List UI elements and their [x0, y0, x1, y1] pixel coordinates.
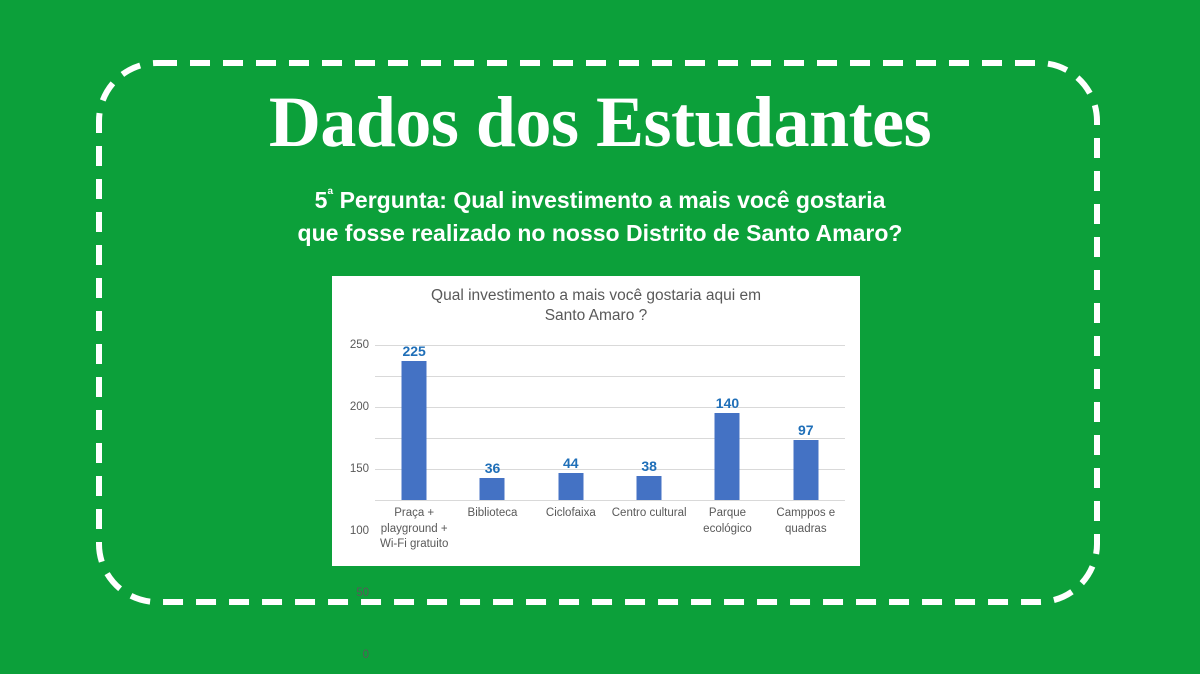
x-axis-category-label: Biblioteca	[453, 506, 531, 553]
bar-value-label: 36	[485, 460, 501, 476]
bar[interactable]	[637, 476, 662, 500]
y-axis-tick-label: 50	[356, 587, 369, 599]
bar-value-label: 38	[641, 458, 657, 474]
y-axis-tick-label: 250	[350, 339, 369, 351]
x-axis-labels: Praça + playground + Wi-Fi gratuitoBibli…	[375, 506, 845, 553]
bar-slot: 36	[453, 345, 531, 500]
x-axis-category-label: Camppos e quadras	[767, 506, 845, 553]
bar[interactable]	[402, 361, 427, 501]
bar[interactable]	[480, 478, 505, 500]
bar[interactable]	[793, 440, 818, 500]
bar-slot: 225	[375, 345, 453, 500]
x-axis-category-label: Ciclofaixa	[532, 506, 610, 553]
y-axis-tick-label: 100	[350, 525, 369, 537]
bar-value-label: 140	[716, 395, 739, 411]
subtitle-question-number: 5	[315, 187, 328, 213]
subtitle: 5ª Pergunta: Qual investimento a mais vo…	[0, 184, 1200, 251]
subtitle-line-1: 5ª Pergunta: Qual investimento a mais vo…	[0, 184, 1200, 217]
page-title: Dados dos Estudantes	[0, 86, 1200, 158]
bar[interactable]	[558, 473, 583, 500]
bar-slot: 140	[688, 345, 766, 500]
y-axis-tick-label: 150	[350, 463, 369, 475]
bar-value-label: 225	[402, 343, 425, 359]
slide-canvas: Dados dos Estudantes 5ª Pergunta: Qual i…	[0, 0, 1200, 674]
gridline: 0	[375, 500, 845, 501]
bar-slot: 38	[610, 345, 688, 500]
chart-title-line-2: Santo Amaro ?	[362, 306, 830, 326]
bar-series: 22536443814097	[375, 345, 845, 500]
chart-title-line-1: Qual investimento a mais você gostaria a…	[362, 286, 830, 306]
x-axis-category-label: Parque ecológico	[688, 506, 766, 553]
y-axis-tick-label: 0	[363, 649, 369, 661]
plot-area: 250200150100500 22536443814097	[375, 345, 845, 500]
subtitle-line-2: que fosse realizado no nosso Distrito de…	[0, 217, 1200, 250]
bar-slot: 44	[532, 345, 610, 500]
chart-title: Qual investimento a mais você gostaria a…	[362, 286, 830, 326]
x-axis-category-label: Praça + playground + Wi-Fi gratuito	[375, 506, 453, 553]
bar[interactable]	[715, 413, 740, 500]
bar-value-label: 44	[563, 455, 579, 471]
chart-panel: Qual investimento a mais você gostaria a…	[332, 276, 860, 566]
bar-slot: 97	[767, 345, 845, 500]
subtitle-line-1-text: Pergunta: Qual investimento a mais você …	[333, 187, 885, 213]
y-axis-tick-label: 200	[350, 401, 369, 413]
bar-value-label: 97	[798, 422, 814, 438]
x-axis-category-label: Centro cultural	[610, 506, 688, 553]
